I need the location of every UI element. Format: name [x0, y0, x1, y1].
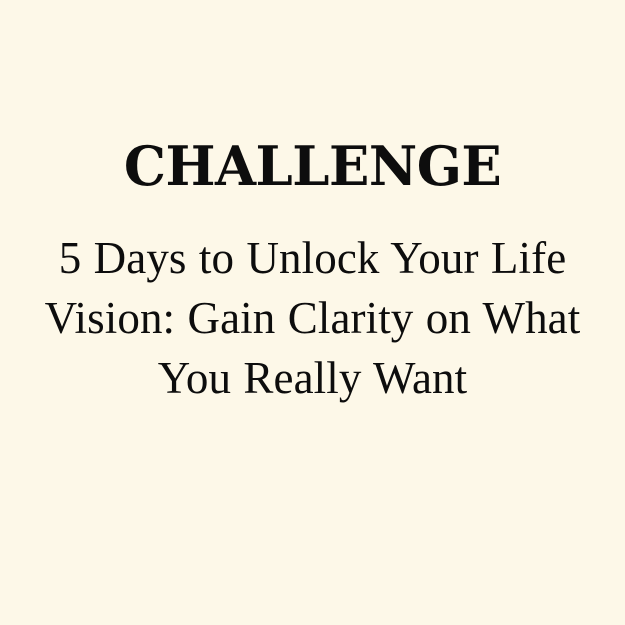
bottom-empty-area	[0, 410, 625, 625]
promo-card: CHALLENGE 5 Days to Unlock Your Life Vis…	[0, 0, 625, 625]
headline-line-1: 5 Days to Unlock Your Life	[16, 228, 609, 288]
eyebrow-container: CHALLENGE	[0, 135, 625, 197]
headline: 5 Days to Unlock Your Life Vision: Gain …	[16, 228, 609, 408]
eyebrow-label: CHALLENGE	[124, 135, 501, 197]
headline-line-2: Vision: Gain Clarity on What	[16, 288, 609, 348]
headline-line-3: You Really Want	[16, 348, 609, 408]
headline-container: 5 Days to Unlock Your Life Vision: Gain …	[0, 228, 625, 408]
